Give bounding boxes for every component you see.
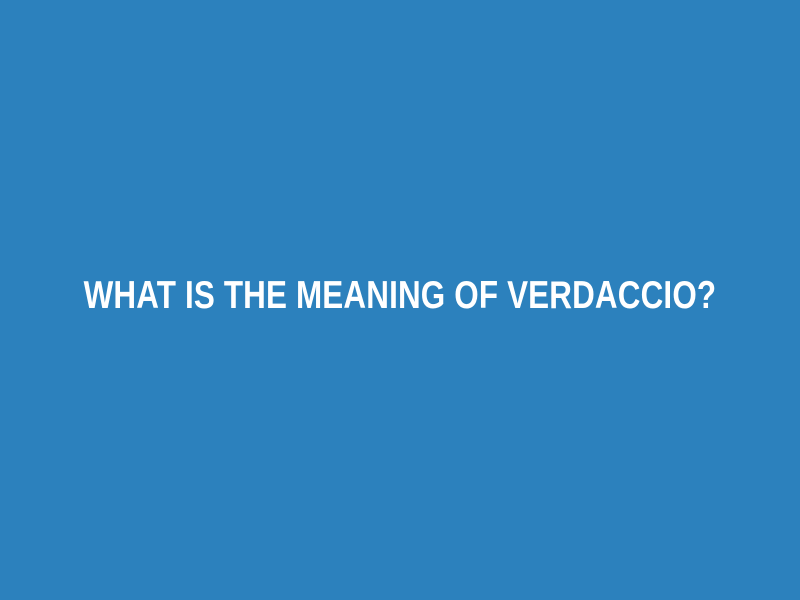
hero-banner: WHAT IS THE MEANING OF VERDACCIO? bbox=[0, 0, 800, 600]
headline-container: WHAT IS THE MEANING OF VERDACCIO? bbox=[0, 281, 800, 309]
page-title: WHAT IS THE MEANING OF VERDACCIO? bbox=[84, 276, 717, 315]
